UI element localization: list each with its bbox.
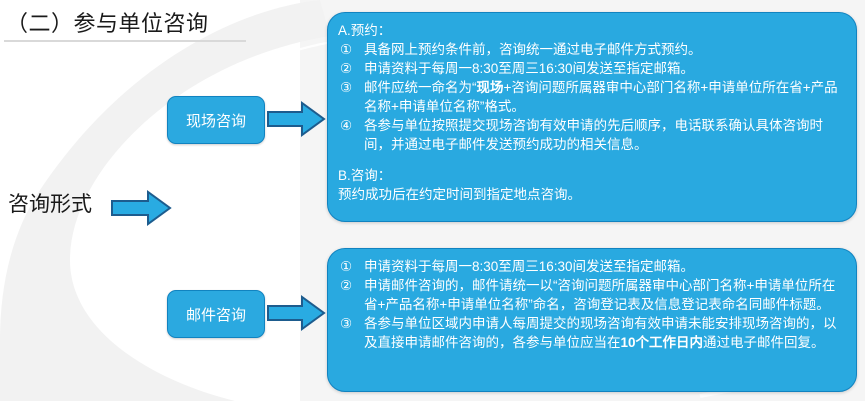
list-item-text: 各参与单位按照提交现场咨询有效申请的先后顺序，电话联系确认具体咨询时间，并通过电…	[364, 118, 823, 152]
list-item-text: 申请邮件咨询的，邮件请统一以“咨询问题所属器审中心部门名称+申请单位所在省+产品…	[364, 278, 835, 312]
right-arrow-icon	[266, 101, 326, 137]
list-item-text: 申请资料于每周一8:30至周三16:30间发送至指定邮箱。	[364, 259, 694, 274]
branch-chip-email-label: 邮件咨询	[186, 304, 246, 325]
branch-chip-email[interactable]: 邮件咨询	[167, 290, 265, 338]
list-item-text-emphasis: 现场	[477, 80, 504, 95]
title-underline	[4, 40, 246, 42]
list-item-text: 通过电子邮件回复。	[703, 335, 825, 350]
content-panel-email: ① 申请资料于每周一8:30至周三16:30间发送至指定邮箱。 ② 申请邮件咨询…	[327, 248, 857, 392]
list-item-text: 具备网上预约条件前，咨询统一通过电子邮件方式预约。	[364, 42, 702, 57]
list-item: ② 申请邮件咨询的，邮件请统一以“咨询问题所属器审中心部门名称+申请单位所在省+…	[338, 276, 846, 314]
list-item: ③ 各参与单位区域内申请人每周提交的现场咨询有效申请未能安排现场咨询的，以及直接…	[338, 314, 846, 352]
list-item: ④ 各参与单位按照提交现场咨询有效申请的先后顺序，电话联系确认具体咨询时间，并通…	[338, 116, 846, 154]
content-panel-onsite: A.预约： ① 具备网上预约条件前，咨询统一通过电子邮件方式预约。 ② 申请资料…	[327, 12, 857, 222]
slide-canvas: （二）参与单位咨询 咨询形式 现场咨询 A.预约： ① 具备网上预约条件前，咨询…	[0, 0, 865, 401]
panel-onsite-section-b-body: 预约成功后在约定时间到指定地点咨询。	[338, 185, 846, 204]
list-item: ② 申请资料于每周一8:30至周三16:30间发送至指定邮箱。	[338, 59, 846, 78]
list-item-text: 邮件应统一命名为“	[364, 80, 477, 95]
list-marker: ③	[340, 78, 352, 97]
list-marker: ④	[340, 116, 352, 135]
list-item: ① 申请资料于每周一8:30至周三16:30间发送至指定邮箱。	[338, 257, 846, 276]
panel-onsite-spacer	[338, 154, 846, 166]
list-item-text: 申请资料于每周一8:30至周三16:30间发送至指定邮箱。	[364, 61, 694, 76]
list-marker: ③	[340, 314, 352, 333]
list-marker: ①	[340, 40, 352, 59]
right-arrow-icon	[110, 190, 172, 226]
list-item-text-emphasis: 10个工作日内	[621, 335, 704, 350]
page-title: （二）参与单位咨询	[6, 6, 209, 38]
list-item: ③ 邮件应统一命名为“现场+咨询问题所属器审中心部门名称+申请单位所在省+产品名…	[338, 78, 846, 116]
list-marker: ②	[340, 276, 352, 295]
panel-onsite-section-a-title: A.预约：	[338, 21, 846, 40]
branch-chip-onsite-label: 现场咨询	[186, 110, 246, 131]
panel-onsite-section-b-title: B.咨询：	[338, 166, 846, 185]
panel-email-list: ① 申请资料于每周一8:30至周三16:30间发送至指定邮箱。 ② 申请邮件咨询…	[338, 257, 846, 352]
list-marker: ②	[340, 59, 352, 78]
list-item: ① 具备网上预约条件前，咨询统一通过电子邮件方式预约。	[338, 40, 846, 59]
branch-chip-onsite[interactable]: 现场咨询	[167, 96, 265, 144]
right-arrow-icon	[266, 295, 326, 331]
panel-onsite-list-a: ① 具备网上预约条件前，咨询统一通过电子邮件方式预约。 ② 申请资料于每周一8:…	[338, 40, 846, 154]
diagram-root-label: 咨询形式	[8, 188, 92, 218]
list-marker: ①	[340, 257, 352, 276]
